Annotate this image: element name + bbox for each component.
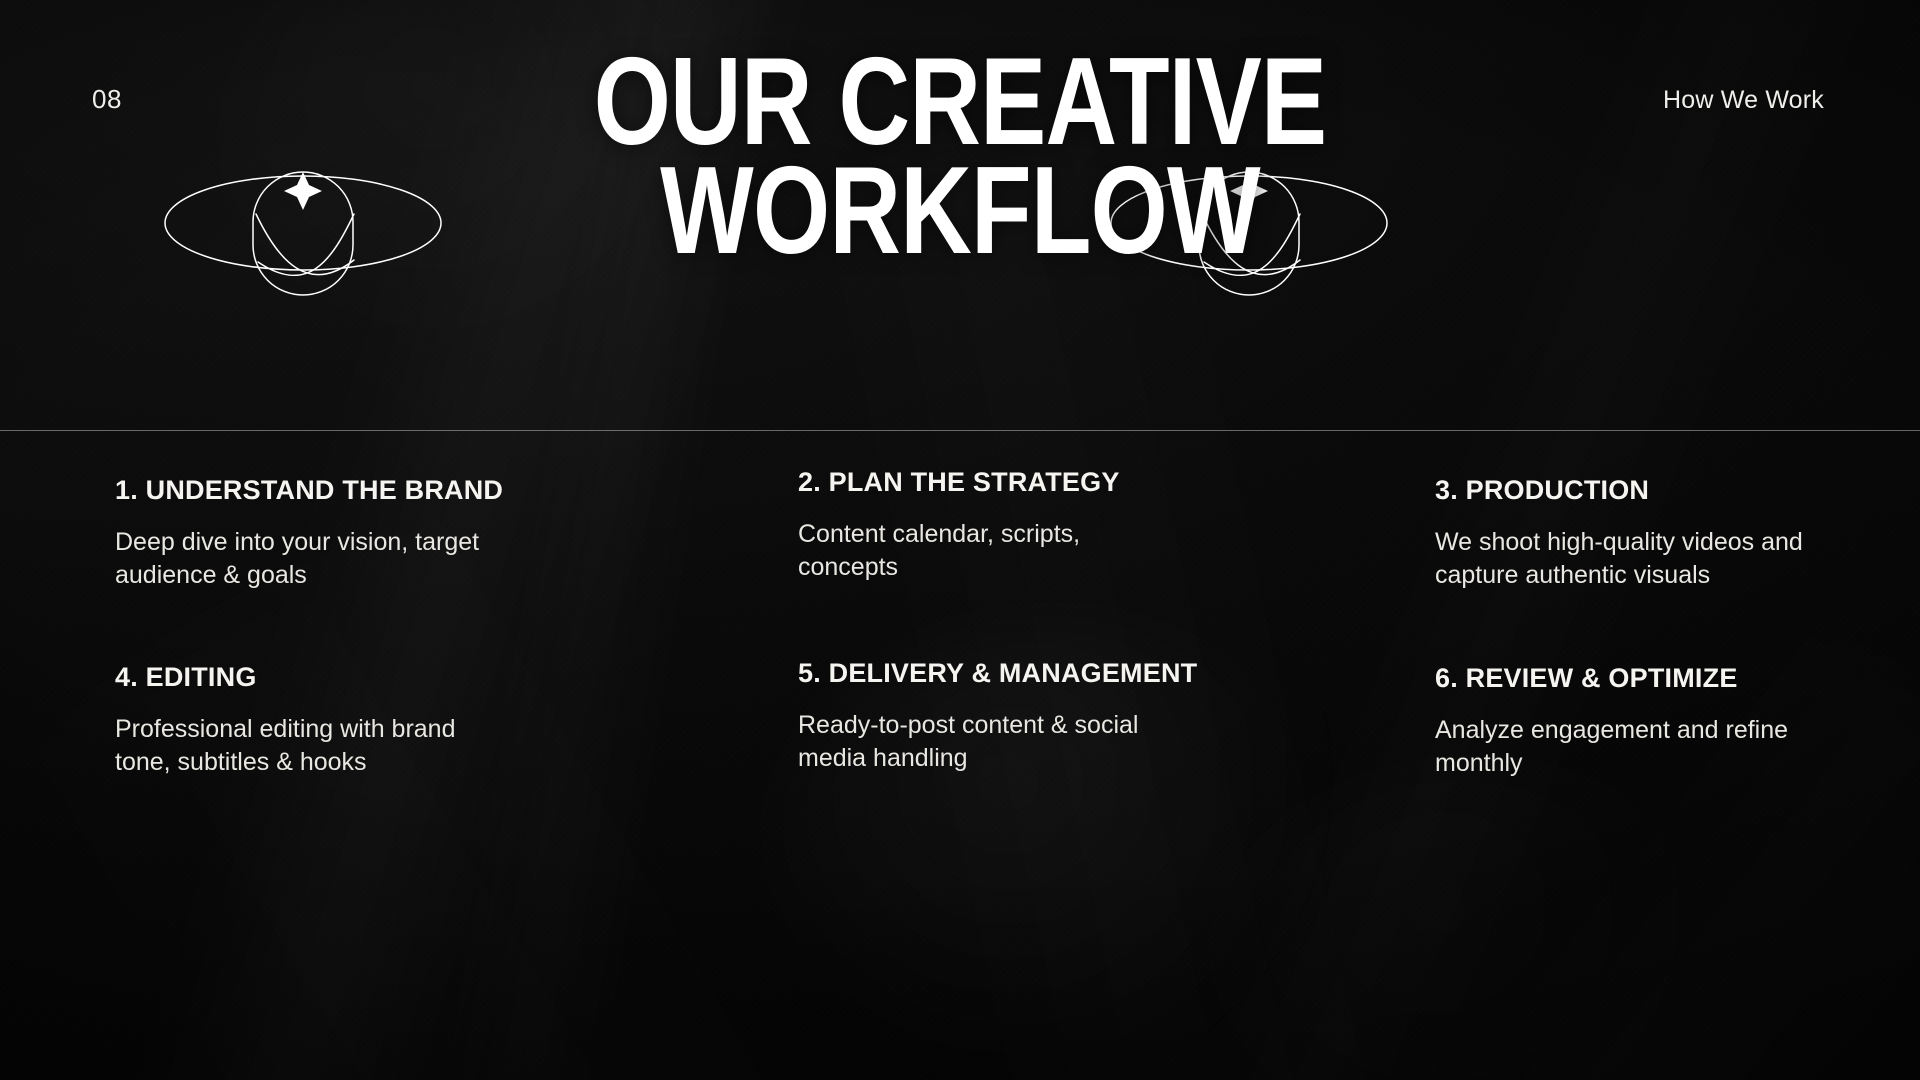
slide-our-creative-workflow: 08 How We Work OUR CREATIVE WOR bbox=[0, 0, 1920, 1080]
workflow-step-4: 4. EDITING Professional editing with bra… bbox=[115, 662, 515, 778]
step-title: 5. DELIVERY & MANAGEMENT bbox=[798, 658, 1197, 689]
step-title: 3. PRODUCTION bbox=[1435, 475, 1835, 506]
page-title: OUR CREATIVE WORKFLOW bbox=[0, 48, 1920, 266]
workflow-step-6: 6. REVIEW & OPTIMIZE Analyze engagement … bbox=[1435, 663, 1835, 779]
step-title: 1. UNDERSTAND THE BRAND bbox=[115, 475, 515, 506]
slide-header: 08 How We Work OUR CREATIVE WOR bbox=[0, 0, 1920, 430]
step-description: Content calendar, scripts, concepts bbox=[798, 518, 1158, 583]
workflow-step-3: 3. PRODUCTION We shoot high-quality vide… bbox=[1435, 475, 1835, 591]
workflow-steps: 1. UNDERSTAND THE BRAND Deep dive into y… bbox=[0, 430, 1920, 1080]
title-line-2: WORKFLOW bbox=[192, 157, 1728, 266]
step-title: 2. PLAN THE STRATEGY bbox=[798, 467, 1158, 498]
step-description: Analyze engagement and refine monthly bbox=[1435, 714, 1835, 779]
step-title: 4. EDITING bbox=[115, 662, 515, 693]
workflow-step-2: 2. PLAN THE STRATEGY Content calendar, s… bbox=[798, 467, 1158, 583]
step-description: We shoot high-quality videos and capture… bbox=[1435, 526, 1835, 591]
step-description: Professional editing with brand tone, su… bbox=[115, 713, 515, 778]
workflow-step-5: 5. DELIVERY & MANAGEMENT Ready-to-post c… bbox=[798, 658, 1197, 774]
step-description: Ready-to-post content & social media han… bbox=[798, 709, 1158, 774]
title-line-1: OUR CREATIVE bbox=[192, 48, 1728, 157]
step-description: Deep dive into your vision, target audie… bbox=[115, 526, 515, 591]
step-title: 6. REVIEW & OPTIMIZE bbox=[1435, 663, 1835, 694]
workflow-step-1: 1. UNDERSTAND THE BRAND Deep dive into y… bbox=[115, 475, 515, 591]
